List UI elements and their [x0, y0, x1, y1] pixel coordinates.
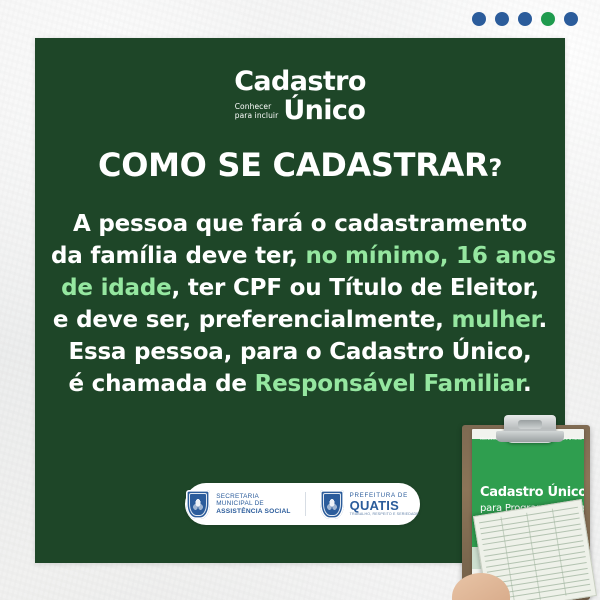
body-line-2: da família deve ter, no mínimo, 16 anos: [51, 240, 549, 272]
body-line-4-part-3: .: [539, 307, 548, 333]
body-line-5-part-1: Essa pessoa, para o Cadastro Único,: [68, 339, 531, 365]
dot-2-icon: [495, 12, 509, 26]
page-title: COMO SE CADASTRAR?: [35, 146, 565, 184]
body-line-2-part-2: no mínimo, 16 anos: [305, 243, 556, 269]
body-line-1-part-1: A pessoa que fará o cadastramento: [73, 211, 527, 237]
prefeitura-line-2: QUATIS: [350, 499, 419, 512]
logo-tagline: Conhecer para incluir: [235, 103, 279, 124]
clipboard-clip-icon: [504, 415, 556, 443]
prefeitura-line-3: TRABALHO, RESPEITO E SERIEDADE: [350, 512, 419, 516]
logo-tagline-line2: para incluir: [235, 112, 279, 121]
logo-word-unico: Único: [283, 97, 365, 124]
body-line-4: e deve ser, preferencialmente, mulher.: [51, 304, 549, 336]
dot-4-icon: [541, 12, 555, 26]
secretaria-line-3: ASSISTÊNCIA SOCIAL: [216, 508, 290, 516]
coat-of-arms-icon: [186, 490, 210, 519]
dot-5-icon: [564, 12, 578, 26]
form-title: Cadastro Único: [480, 485, 584, 500]
cadastro-unico-logo: Cadastro Conhecer para incluir Único: [35, 68, 565, 124]
secretaria-line-1: SECRETARIA: [216, 493, 290, 500]
decorative-dot-row: [472, 12, 578, 26]
body-copy: A pessoa que fará o cadastramentoda famí…: [51, 208, 549, 400]
clipboard-photo: Ministério do Desenvolvimento Social e C…: [452, 415, 600, 600]
secretaria-assistencia-social-logo: SECRETARIA MUNICIPAL DE ASSISTÊNCIA SOCI…: [186, 490, 290, 519]
body-line-4-part-1: e deve ser, preferencialmente,: [53, 307, 452, 333]
body-line-6-part-3: .: [523, 371, 532, 397]
page-title-text: COMO SE CADASTRAR: [98, 146, 488, 184]
body-line-3: de idade, ter CPF ou Título de Eleitor,: [51, 272, 549, 304]
body-line-6-part-2: Responsável Familiar: [255, 371, 523, 397]
logo-word-cadastro: Cadastro: [234, 68, 366, 95]
body-line-4-part-2: mulher: [451, 307, 538, 333]
prefeitura-quatis-logo: PREFEITURA DE QUATIS TRABALHO, RESPEITO …: [320, 490, 419, 519]
footer-logo-pill: SECRETARIA MUNICIPAL DE ASSISTÊNCIA SOCI…: [185, 483, 420, 525]
footer-divider: [305, 492, 306, 516]
body-line-6-part-1: é chamada de: [68, 371, 254, 397]
body-line-6: é chamada de Responsável Familiar.: [51, 368, 549, 400]
dot-1-icon: [472, 12, 486, 26]
body-line-3-part-1: de idade: [61, 275, 171, 301]
quatis-coat-of-arms-icon: [320, 490, 344, 519]
secretaria-logo-text: SECRETARIA MUNICIPAL DE ASSISTÊNCIA SOCI…: [216, 493, 290, 515]
body-line-1: A pessoa que fará o cadastramento: [51, 208, 549, 240]
body-line-2-part-1: da família deve ter,: [51, 243, 305, 269]
body-line-5: Essa pessoa, para o Cadastro Único,: [51, 336, 549, 368]
page-title-question-mark: ?: [488, 154, 502, 182]
body-line-3-part-2: , ter CPF ou Título de Eleitor,: [172, 275, 539, 301]
dot-3-icon: [518, 12, 532, 26]
prefeitura-logo-text: PREFEITURA DE QUATIS TRABALHO, RESPEITO …: [350, 492, 419, 517]
secretaria-line-2: MUNICIPAL DE: [216, 500, 290, 507]
